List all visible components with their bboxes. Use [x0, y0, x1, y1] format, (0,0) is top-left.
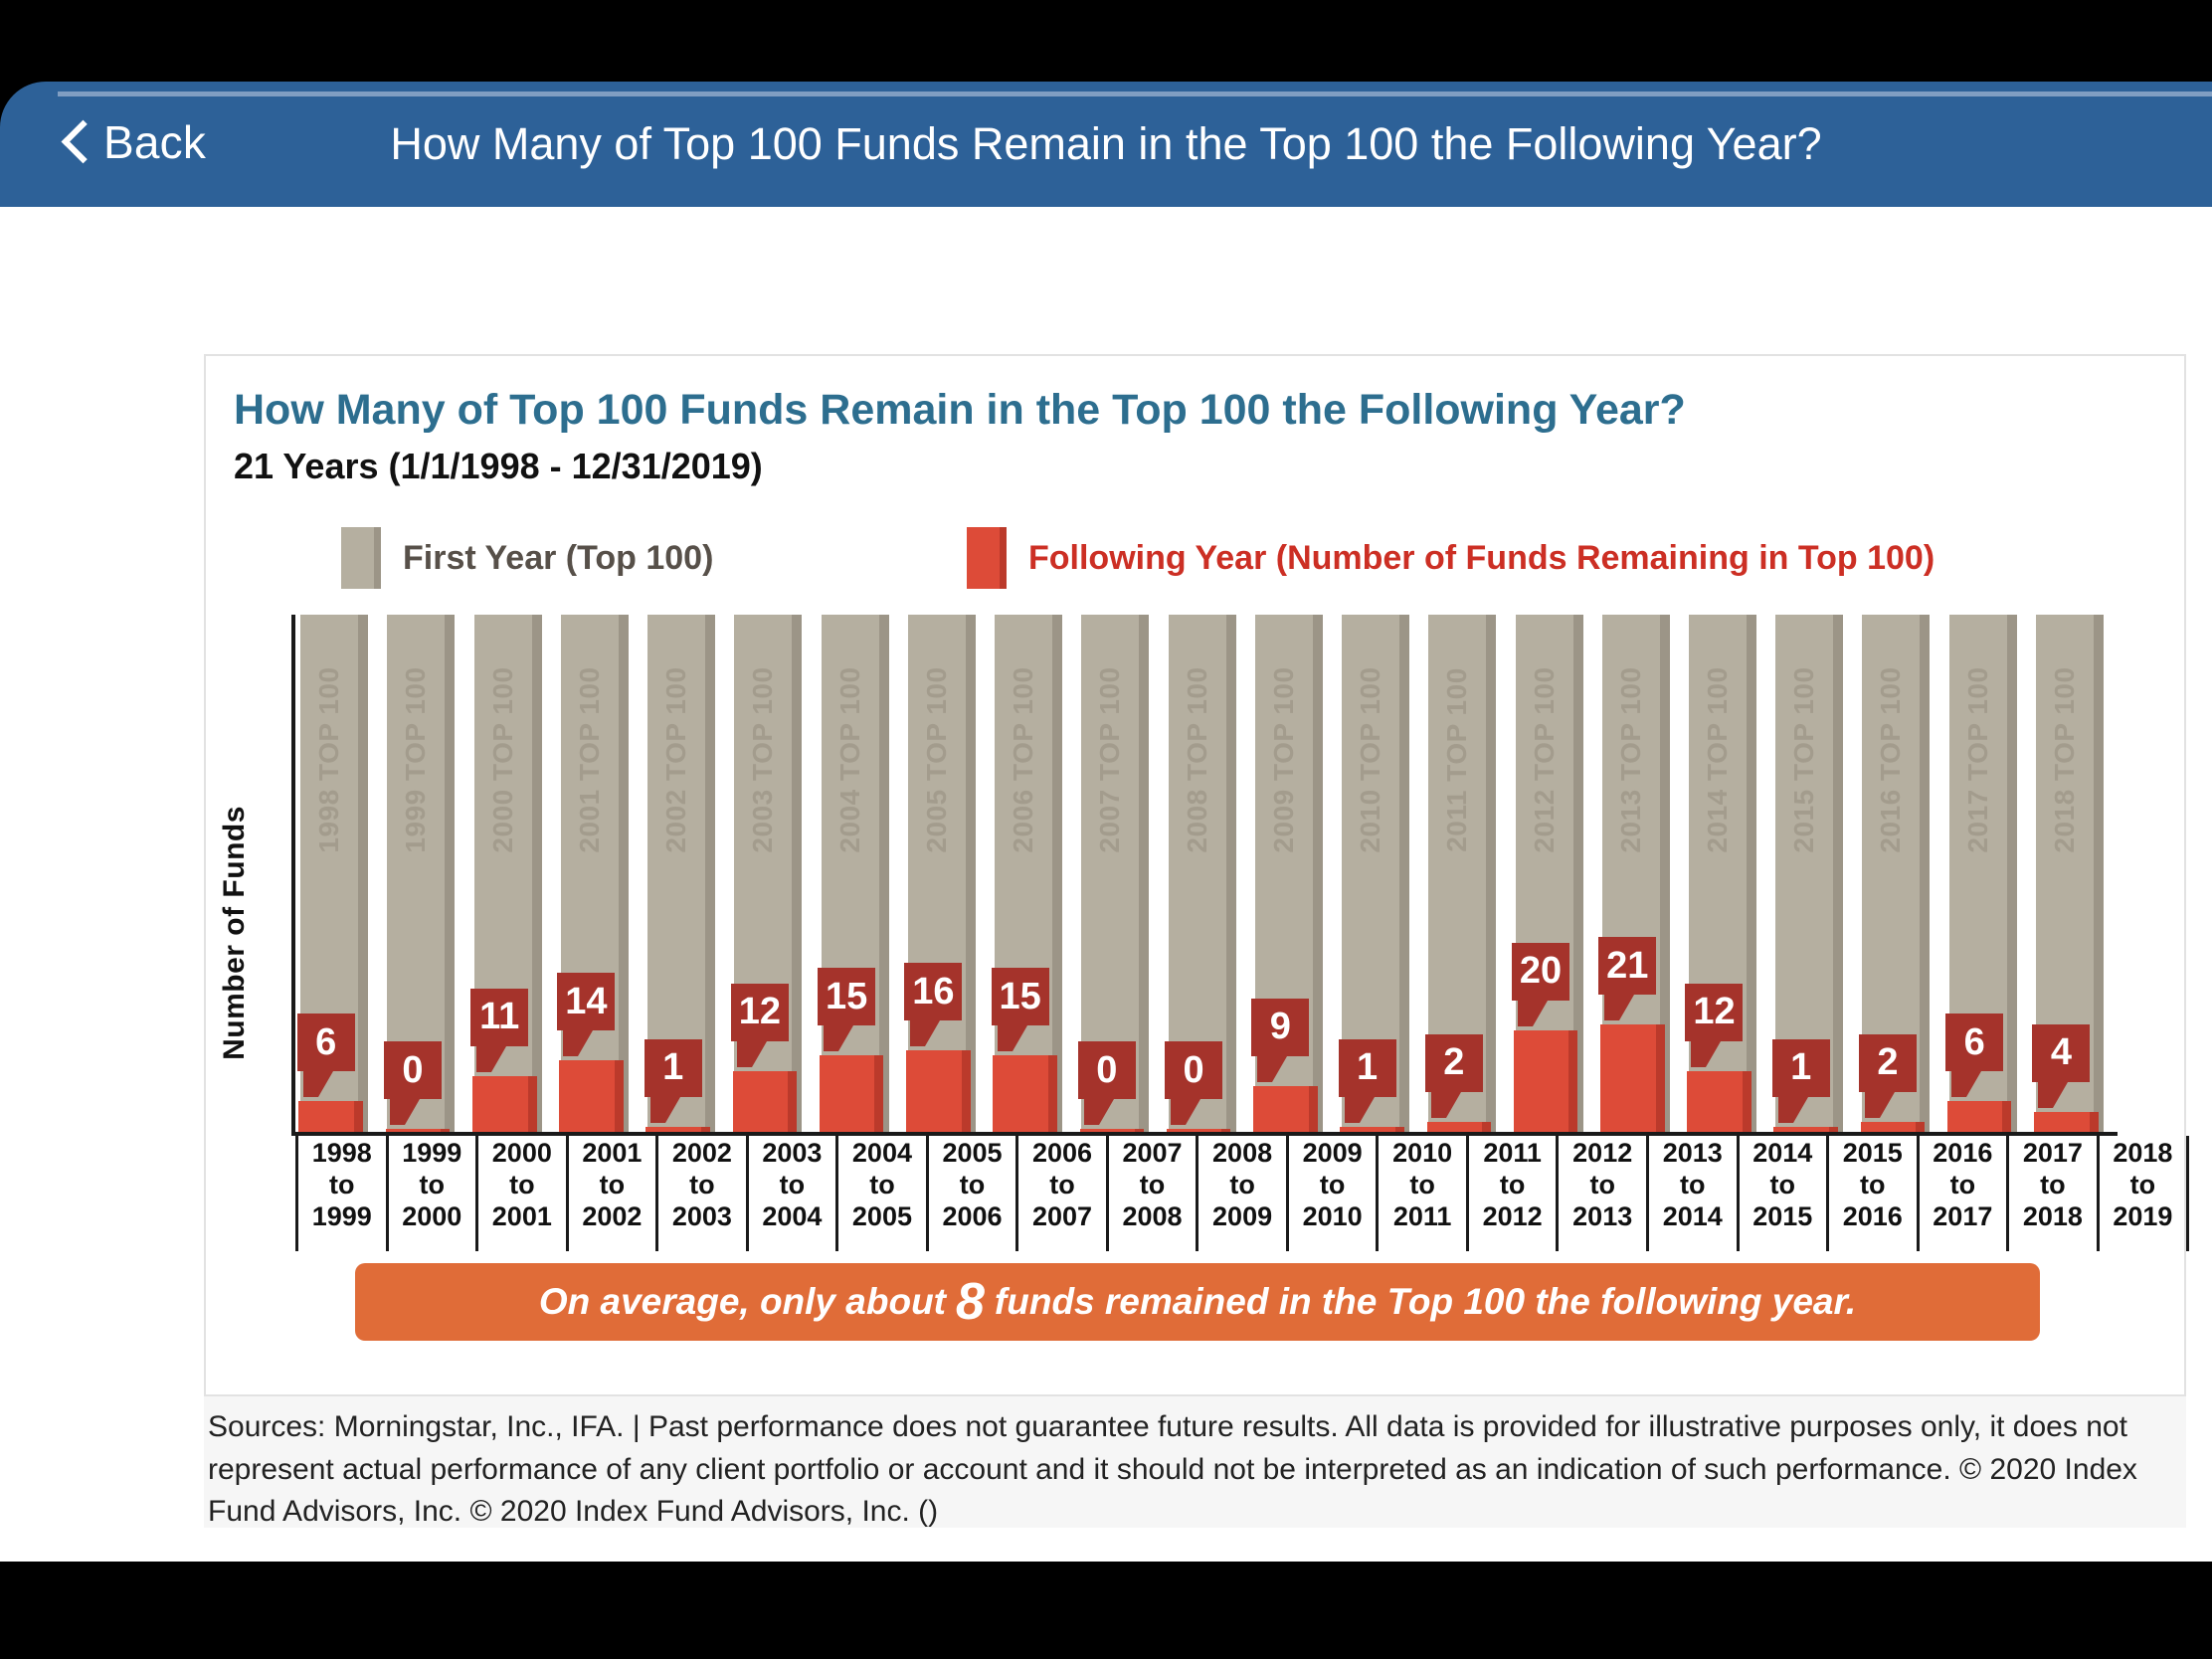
x-axis-tick-line: 2005: [852, 1201, 912, 1233]
bar-value-callout: 2: [1859, 1034, 1917, 1092]
bar-first-year-label: 2000 TOP 100: [487, 666, 519, 852]
x-axis-tick-line: to: [2130, 1170, 2155, 1201]
x-axis-tick-line: to: [1860, 1170, 1885, 1201]
bar-column: 2001 TOP 10014: [556, 615, 643, 1132]
chevron-left-icon: [62, 119, 88, 165]
x-axis-tick-label: 2005to2006: [929, 1136, 1019, 1251]
bar-first-year-label: 2012 TOP 100: [1529, 666, 1561, 852]
bar-value-callout: 1: [1339, 1039, 1396, 1097]
x-axis-tick-label: 2009to2010: [1289, 1136, 1380, 1251]
x-axis-tick-line: 2010: [1303, 1201, 1363, 1233]
bar-value-callout: 6: [1945, 1014, 2003, 1071]
bar-value-callout: 20: [1512, 943, 1569, 1001]
x-axis-tick-line: to: [689, 1170, 714, 1201]
x-axis-tick-line: to: [1140, 1170, 1165, 1201]
bar-value-callout: 0: [1078, 1041, 1136, 1099]
bar-column: 2014 TOP 10012: [1684, 615, 1770, 1132]
bar-following-year: [1167, 1129, 1231, 1132]
x-axis-tick-line: to: [420, 1170, 445, 1201]
x-axis-tick-label: 2001to2002: [569, 1136, 659, 1251]
bar-column: 2013 TOP 10021: [1597, 615, 1684, 1132]
bar-first-year-label: 2010 TOP 100: [1355, 666, 1386, 852]
chart-legend: First Year (Top 100) Following Year (Num…: [206, 527, 2188, 591]
bar-first-year-label: 2009 TOP 100: [1268, 666, 1300, 852]
x-axis-tick-line: 2012: [1483, 1201, 1543, 1233]
x-axis-tick-line: 2016: [1933, 1138, 1992, 1170]
x-axis-tick-label: 2017to2018: [2009, 1136, 2100, 1251]
x-axis-tick-line: to: [1049, 1170, 1074, 1201]
bar-following-year: [386, 1129, 451, 1132]
bar-group: 1998 TOP 10061999 TOP 10002000 TOP 10011…: [295, 615, 2118, 1132]
bar-following-year: [559, 1060, 624, 1132]
x-axis-tick-line: to: [1320, 1170, 1345, 1201]
bar-value-callout: 0: [384, 1041, 442, 1099]
bar-following-year: [1253, 1086, 1318, 1132]
app-root: How Many of Top 100 Funds Remain in the …: [0, 0, 2212, 1659]
average-callout-banner: On average, only about 8 funds remained …: [355, 1263, 2040, 1341]
x-axis-tick-label: 2000to2001: [478, 1136, 569, 1251]
banner-text-before: On average, only about: [539, 1281, 946, 1323]
x-axis-tick-line: 2009: [1212, 1201, 1272, 1233]
bar-value-callout: 12: [1685, 984, 1743, 1041]
bar-value-callout: 0: [1165, 1041, 1222, 1099]
x-axis-tick-line: to: [869, 1170, 894, 1201]
x-axis-tick-label: 1999to2000: [389, 1136, 479, 1251]
bar-following-year: [645, 1127, 710, 1132]
x-axis-tick-line: 2004: [762, 1201, 822, 1233]
bar-first-year-label: 2007 TOP 100: [1094, 666, 1126, 852]
bar-value-callout: 1: [1772, 1039, 1830, 1097]
x-axis-tick-line: 1998: [312, 1138, 372, 1170]
legend-item-first-year: First Year (Top 100): [341, 527, 713, 589]
x-axis-tick-line: to: [1680, 1170, 1705, 1201]
bar-column: 1999 TOP 1000: [382, 615, 468, 1132]
x-axis-tick-line: to: [1229, 1170, 1254, 1201]
x-axis-tick-line: 2007: [1032, 1201, 1092, 1233]
x-axis-tick-label: 2016to2017: [1920, 1136, 2010, 1251]
x-axis-tick-line: to: [780, 1170, 805, 1201]
x-axis-tick-line: 2006: [1032, 1138, 1092, 1170]
legend-label-following-year: Following Year (Number of Funds Remainin…: [1028, 539, 1935, 578]
bar-column: 2008 TOP 1000: [1163, 615, 1249, 1132]
x-axis-tick-line: to: [2040, 1170, 2065, 1201]
bar-column: 2009 TOP 1009: [1250, 615, 1337, 1132]
bar-column: 1998 TOP 1006: [295, 615, 382, 1132]
bar-first-year-label: 2014 TOP 100: [1702, 666, 1734, 852]
bar-first-year-label: 2016 TOP 100: [1875, 666, 1907, 852]
bar-value-callout: 12: [731, 984, 789, 1041]
bar-value-callout: 15: [818, 968, 875, 1025]
bar-column: 2012 TOP 10020: [1510, 615, 1596, 1132]
bar-following-year: [733, 1071, 798, 1132]
x-axis-tick-line: 1999: [312, 1201, 372, 1233]
bar-column: 2017 TOP 1006: [1943, 615, 2030, 1132]
x-axis-tick-line: 2018: [2023, 1201, 2083, 1233]
x-axis-tick-label: 2008to2009: [1198, 1136, 1289, 1251]
chart-card: How Many of Top 100 Funds Remain in the …: [204, 354, 2186, 1396]
bar-value-callout: 16: [904, 963, 962, 1020]
bar-column: 2011 TOP 1002: [1423, 615, 1510, 1132]
bar-first-year-label: 1999 TOP 100: [400, 666, 432, 852]
x-axis-tick-line: 2007: [1123, 1138, 1183, 1170]
bar-following-year: [1427, 1122, 1492, 1132]
y-axis-label: Number of Funds: [218, 784, 252, 1082]
bar-following-year: [1080, 1129, 1145, 1132]
x-axis-tick-label: 2004to2005: [838, 1136, 929, 1251]
bar-following-year: [298, 1101, 363, 1132]
x-axis-tick-line: 2011: [1393, 1201, 1452, 1233]
bar-following-year: [993, 1055, 1057, 1132]
legend-swatch-first-year: [341, 527, 381, 589]
bar-first-year-label: 2003 TOP 100: [747, 666, 779, 852]
sources-footnote: Sources: Morningstar, Inc., IFA. | Past …: [204, 1396, 2186, 1528]
x-axis-tick-label: 2014to2015: [1740, 1136, 1830, 1251]
x-axis-tick-line: 2009: [1303, 1138, 1363, 1170]
bar-first-year-label: 2015 TOP 100: [1788, 666, 1820, 852]
x-axis-tick-line: 2003: [762, 1138, 822, 1170]
bar-following-year: [820, 1055, 884, 1132]
legend-label-first-year: First Year (Top 100): [403, 539, 713, 578]
letterbox-top: [0, 0, 2212, 82]
x-axis-tick-line: to: [509, 1170, 534, 1201]
bar-following-year: [2034, 1112, 2099, 1132]
bar-value-callout: 21: [1598, 937, 1656, 995]
bar-first-year-label: 2002 TOP 100: [660, 666, 692, 852]
bar-column: 2016 TOP 1002: [1857, 615, 1943, 1132]
x-axis-tick-line: 2019: [2113, 1201, 2172, 1233]
bar-first-year-label: 1998 TOP 100: [313, 666, 345, 852]
x-axis-tick-label: 2003to2004: [749, 1136, 839, 1251]
x-axis-tick-line: 2010: [1392, 1138, 1452, 1170]
x-axis-tick-line: 2002: [672, 1138, 732, 1170]
x-axis-tick-line: 2017: [2023, 1138, 2083, 1170]
x-axis-tick-line: 2000: [402, 1201, 461, 1233]
bar-following-year: [1773, 1127, 1838, 1132]
x-axis-tick-line: 2002: [582, 1201, 642, 1233]
bar-following-year: [472, 1076, 537, 1132]
x-axis-tick-line: to: [1589, 1170, 1614, 1201]
x-axis-tick-line: 2013: [1663, 1138, 1723, 1170]
x-axis-tick-line: 1999: [402, 1138, 461, 1170]
x-axis-tick-line: 2000: [492, 1138, 552, 1170]
x-axis-tick-label: 1998to1999: [298, 1136, 389, 1251]
x-axis-tick-label: 2010to2011: [1379, 1136, 1469, 1251]
x-axis-tick-line: 2008: [1123, 1201, 1183, 1233]
x-axis-tick-line: 2018: [2113, 1138, 2172, 1170]
bar-following-year: [906, 1050, 971, 1132]
x-axis-tick-line: 2006: [942, 1201, 1002, 1233]
bar-value-callout: 14: [557, 973, 615, 1030]
x-axis-tick-label: 2012to2013: [1559, 1136, 1649, 1251]
bar-first-year-label: 2006 TOP 100: [1008, 666, 1039, 852]
bar-following-year: [1687, 1071, 1751, 1132]
x-axis-tick-line: to: [600, 1170, 625, 1201]
x-axis-tick-line: 2013: [1572, 1201, 1632, 1233]
bar-column: 2010 TOP 1001: [1337, 615, 1423, 1132]
banner-average-number: 8: [946, 1276, 995, 1328]
page-content: How Many of Top 100 Funds Remain in the …: [0, 207, 2212, 1562]
x-axis-tick-label: 2015to2016: [1829, 1136, 1920, 1251]
legend-swatch-following-year: [967, 527, 1007, 589]
x-axis-tick-label: 2006to2007: [1018, 1136, 1109, 1251]
x-axis-tick-line: 2014: [1663, 1201, 1723, 1233]
bar-value-callout: 15: [992, 968, 1049, 1025]
x-axis-tick-label: 2007to2008: [1109, 1136, 1199, 1251]
bar-first-year-label: 2008 TOP 100: [1182, 666, 1213, 852]
bar-value-callout: 4: [2032, 1024, 2090, 1082]
bar-first-year-label: 2018 TOP 100: [2049, 666, 2081, 852]
x-axis-tick-line: to: [1409, 1170, 1434, 1201]
x-axis-tick-line: to: [1950, 1170, 1975, 1201]
bar-column: 2004 TOP 10015: [816, 615, 902, 1132]
bar-column: 2018 TOP 1004: [2031, 615, 2118, 1132]
x-axis-tick-line: 2011: [1483, 1138, 1542, 1170]
bar-column: 2006 TOP 10015: [990, 615, 1076, 1132]
bar-value-callout: 11: [470, 989, 528, 1046]
x-axis-tick-line: to: [960, 1170, 985, 1201]
x-axis-tick-label: 2011to2012: [1469, 1136, 1560, 1251]
x-axis-tick-line: 2014: [1752, 1138, 1812, 1170]
bar-following-year: [1861, 1122, 1926, 1132]
letterbox-bottom: [0, 1562, 2212, 1659]
bar-value-callout: 2: [1425, 1034, 1483, 1092]
chart-title: How Many of Top 100 Funds Remain in the …: [234, 386, 1686, 435]
x-axis-tick-line: 2008: [1212, 1138, 1272, 1170]
x-axis-tick-line: 2012: [1572, 1138, 1632, 1170]
legend-item-following-year: Following Year (Number of Funds Remainin…: [967, 527, 1935, 589]
x-axis-tick-line: 2015: [1843, 1138, 1903, 1170]
back-button-label: Back: [103, 119, 206, 165]
x-axis-tick-line: 2001: [492, 1201, 552, 1233]
x-axis-labels: 1998to19991999to20002000to20012001to2002…: [295, 1136, 2189, 1251]
bar-following-year: [1947, 1101, 2012, 1132]
x-axis-tick-line: 2004: [852, 1138, 912, 1170]
chart-subtitle: 21 Years (1/1/1998 - 12/31/2019): [234, 446, 763, 487]
bar-first-year-label: 2004 TOP 100: [834, 666, 866, 852]
back-button[interactable]: Back: [62, 105, 206, 179]
bar-value-callout: 9: [1251, 999, 1309, 1056]
bar-column: 2002 TOP 1001: [643, 615, 729, 1132]
navigation-bar: How Many of Top 100 Funds Remain in the …: [0, 82, 2212, 207]
bar-first-year: 2006 TOP 100: [995, 615, 1062, 1132]
bar-value-callout: 6: [297, 1014, 355, 1071]
x-axis-tick-label: 2013to2014: [1649, 1136, 1740, 1251]
banner-text-after: funds remained in the Top 100 the follow…: [995, 1281, 1856, 1323]
bar-following-year: [1514, 1030, 1578, 1132]
bar-following-year: [1600, 1024, 1665, 1132]
bar-first-year-label: 2001 TOP 100: [574, 666, 606, 852]
bar-column: 2007 TOP 1000: [1076, 615, 1163, 1132]
bar-first-year-label: 2017 TOP 100: [1962, 666, 1994, 852]
x-axis-tick-line: 2005: [942, 1138, 1002, 1170]
page-title: How Many of Top 100 Funds Remain in the …: [0, 82, 2212, 207]
x-axis-tick-line: 2001: [582, 1138, 642, 1170]
bar-column: 2015 TOP 1001: [1770, 615, 1857, 1132]
bar-column: 2005 TOP 10016: [903, 615, 990, 1132]
bar-first-year-label: 2013 TOP 100: [1615, 666, 1647, 852]
bar-first-year: 2004 TOP 100: [822, 615, 889, 1132]
x-axis-tick-line: 2015: [1752, 1201, 1812, 1233]
x-axis-tick-label: 2018to2019: [2100, 1136, 2190, 1251]
x-axis-tick-line: to: [329, 1170, 354, 1201]
x-axis-tick-line: to: [1500, 1170, 1525, 1201]
x-axis-tick-line: 2017: [1933, 1201, 1992, 1233]
x-axis-tick-line: to: [1770, 1170, 1795, 1201]
bar-column: 2003 TOP 10012: [729, 615, 816, 1132]
bar-first-year-label: 2011 TOP 100: [1441, 667, 1473, 852]
bar-first-year-label: 2005 TOP 100: [921, 666, 953, 852]
x-axis-tick-line: 2003: [672, 1201, 732, 1233]
bar-column: 2000 TOP 10011: [468, 615, 555, 1132]
x-axis-tick-label: 2002to2003: [658, 1136, 749, 1251]
bar-following-year: [1340, 1127, 1404, 1132]
x-axis-tick-line: 2016: [1843, 1201, 1903, 1233]
bar-value-callout: 1: [645, 1039, 702, 1097]
